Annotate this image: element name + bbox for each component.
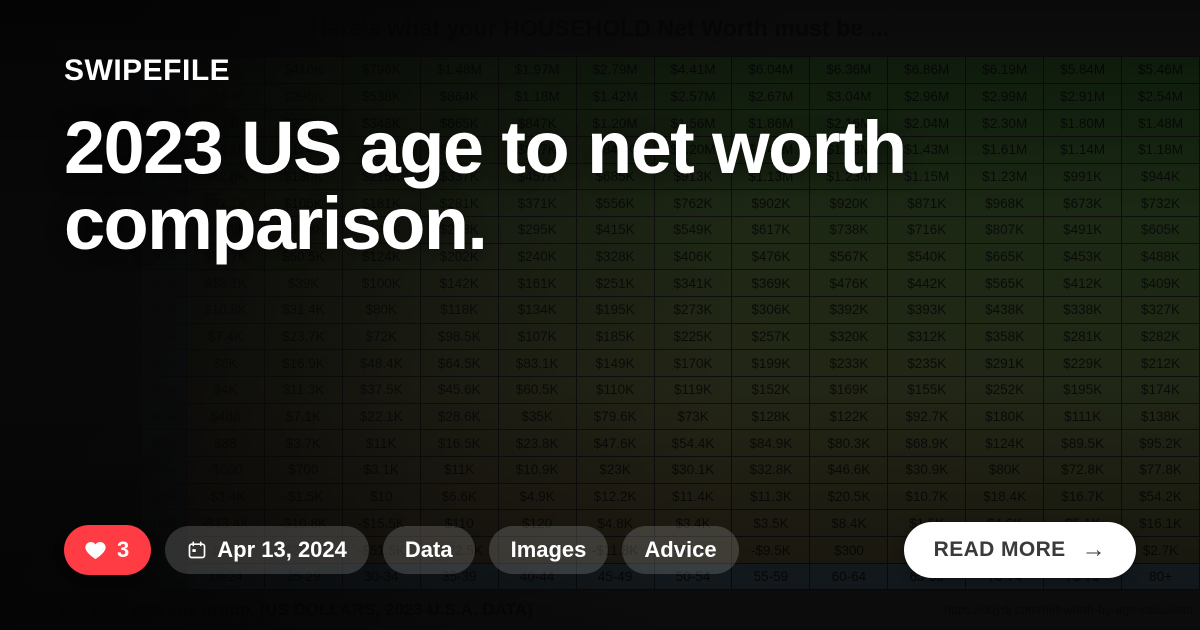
tag-label: Images — [511, 537, 587, 563]
tag-images[interactable]: Images — [489, 526, 609, 574]
social-share-card: Here's what your HOUSEHOLD Net Worth mus… — [0, 0, 1200, 630]
calendar-icon — [187, 540, 207, 560]
page-title: 2023 US age to net worth comparison. — [64, 110, 924, 262]
tag-advice[interactable]: Advice — [622, 526, 738, 574]
date-pill: Apr 13, 2024 — [165, 526, 369, 574]
like-count: 3 — [117, 537, 129, 563]
tag-data[interactable]: Data — [383, 526, 475, 574]
tag-label: Data — [405, 537, 453, 563]
date-label: Apr 13, 2024 — [217, 537, 347, 563]
arrow-right-icon: → — [1082, 538, 1106, 562]
read-more-button[interactable]: READ MORE → — [904, 522, 1136, 578]
card-bottom-bar: 3 Apr 13, 2024 Data Images Advice R — [64, 522, 1136, 578]
tag-label: Advice — [644, 537, 716, 563]
like-badge[interactable]: 3 — [64, 525, 151, 575]
heart-icon — [84, 539, 107, 562]
read-more-label: READ MORE — [934, 538, 1066, 562]
brand-logo[interactable]: SWIPEFILE — [64, 56, 1136, 86]
